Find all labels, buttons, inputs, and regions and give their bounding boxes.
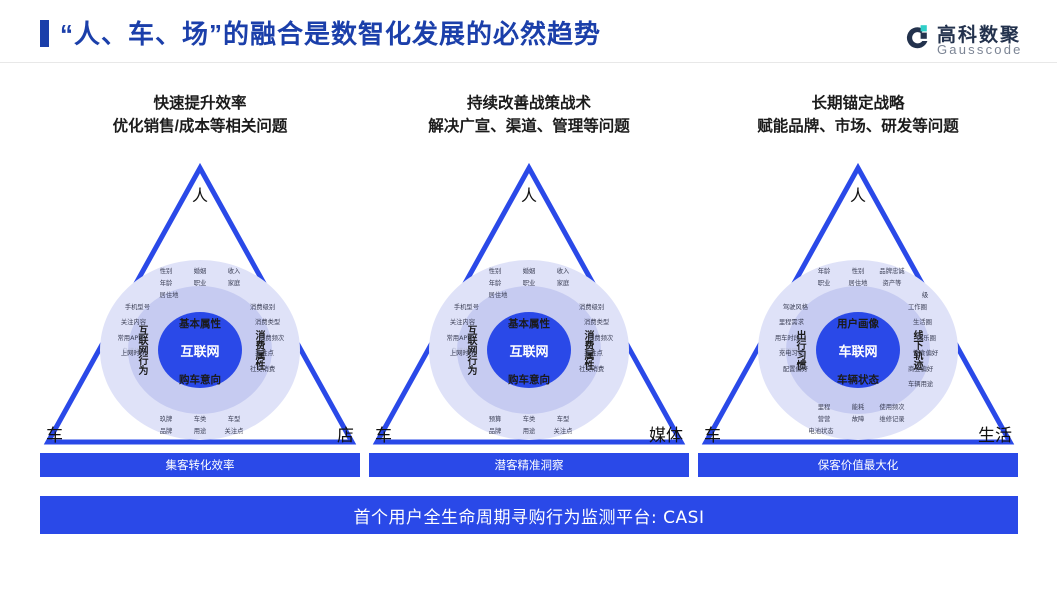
column-heading-2: 持续改善战策战术 解决广宣、渠道、管理等问题 [369, 92, 689, 139]
concentric-rings-2: 互联网 基本属性 购车意向 互联网行为 消费属性 自媒体 性别婚姻收入 年龄职业… [429, 260, 629, 440]
triangle-corner-right: 媒体 [649, 421, 683, 446]
satellite-top-2: 性别婚姻收入 年龄职业家庭 居住地 [429, 266, 629, 302]
heading-line-2: 赋能品牌、市场、研发等问题 [698, 115, 1018, 138]
gausscode-logo-icon [903, 24, 931, 52]
concentric-rings-1: 互联网 基本属性 购车意向 互联网行为 消费属性 自媒体 性别婚姻收入 年龄职业… [100, 260, 300, 440]
satellite-left-1: 手机型号关注内容常用APP上网时间 [88, 300, 150, 362]
page-title: “人、车、场”的融合是数智化发展的必然趋势 [60, 14, 601, 51]
concentric-rings-3: 车联网 用户画像 车辆状态 出行习惯 线下轨迹 互联网 年龄性别品牌忠诚 职业居… [758, 260, 958, 440]
sub-bar-1: 集客转化效率 [40, 453, 360, 477]
triangle-apex-label: 人 [40, 182, 360, 206]
header-divider [0, 62, 1057, 63]
triangle-panel-2: 互联网 基本属性 购车意向 互联网行为 消费属性 自媒体 性别婚姻收入 年龄职业… [369, 160, 689, 448]
satellite-top-1: 性别婚姻收入 年龄职业家庭 居住地 [100, 266, 300, 302]
triangle-panel-3: 车联网 用户画像 车辆状态 出行习惯 线下轨迹 互联网 年龄性别品牌忠诚 职业居… [698, 160, 1018, 448]
satellite-bottom-3: 里程能耗使用频次 营营故障维修记录 电池状态 [758, 402, 958, 438]
satellite-right-1: 消费级别消费类型消费频次关注点社交消费 [250, 300, 314, 377]
brand-logo: 高科数聚 Gausscode [903, 20, 1043, 60]
triangle-panel-1: 互联网 基本属性 购车意向 互联网行为 消费属性 自媒体 性别婚姻收入 年龄职业… [40, 160, 360, 448]
heading-line-1: 长期锚定战略 [698, 92, 1018, 115]
heading-line-1: 快速提升效率 [40, 92, 360, 115]
satellite-right-2: 消费级别消费类型消费频次关注点社交消费 [579, 300, 643, 377]
column-heading-3: 长期锚定战略 赋能品牌、市场、研发等问题 [698, 92, 1018, 139]
triangle-corner-right: 店 [337, 421, 354, 446]
satellite-bottom-2: 预算车类车型 品牌用途关注点 [429, 414, 629, 438]
triangle-corner-left: 车 [46, 421, 63, 446]
satellite-left-2: 手机型号关注内容常用APP上网时间 [417, 300, 479, 362]
heading-line-2: 解决广宣、渠道、管理等问题 [369, 115, 689, 138]
satellite-left-3: 驾驶风格里程需求用车时段充电习惯配置偏好 [746, 300, 808, 377]
page-header: “人、车、场”的融合是数智化发展的必然趋势 高科数聚 Gausscode [0, 0, 1057, 63]
title-bullet-icon [40, 20, 49, 47]
satellite-top-3: 年龄性别品牌忠诚 职业居住地资产等 级 [758, 266, 958, 302]
triangle-corner-right: 生活 [978, 421, 1012, 446]
triangle-corner-left: 车 [375, 421, 392, 446]
satellite-bottom-1: 玖牌车类车型 品牌用途关注点 [100, 414, 300, 438]
sub-bar-2: 潜客精准洞察 [369, 453, 689, 477]
triangle-apex-label: 人 [369, 182, 689, 206]
triangle-corner-left: 车 [704, 421, 721, 446]
triangle-apex-label: 人 [698, 182, 1018, 206]
column-heading-1: 快速提升效率 优化销售/成本等相关问题 [40, 92, 360, 139]
heading-line-2: 优化销售/成本等相关问题 [40, 115, 360, 138]
platform-banner: 首个用户全生命周期寻购行为监测平台: CASI [40, 496, 1018, 534]
logo-text-en: Gausscode [937, 42, 1023, 57]
heading-line-1: 持续改善战策战术 [369, 92, 689, 115]
sub-bar-3: 保客价值最大化 [698, 453, 1018, 477]
satellite-right-3: 工作圈生活圈娱乐圈饮食偏好商业偏好车辆用途 [908, 300, 972, 393]
